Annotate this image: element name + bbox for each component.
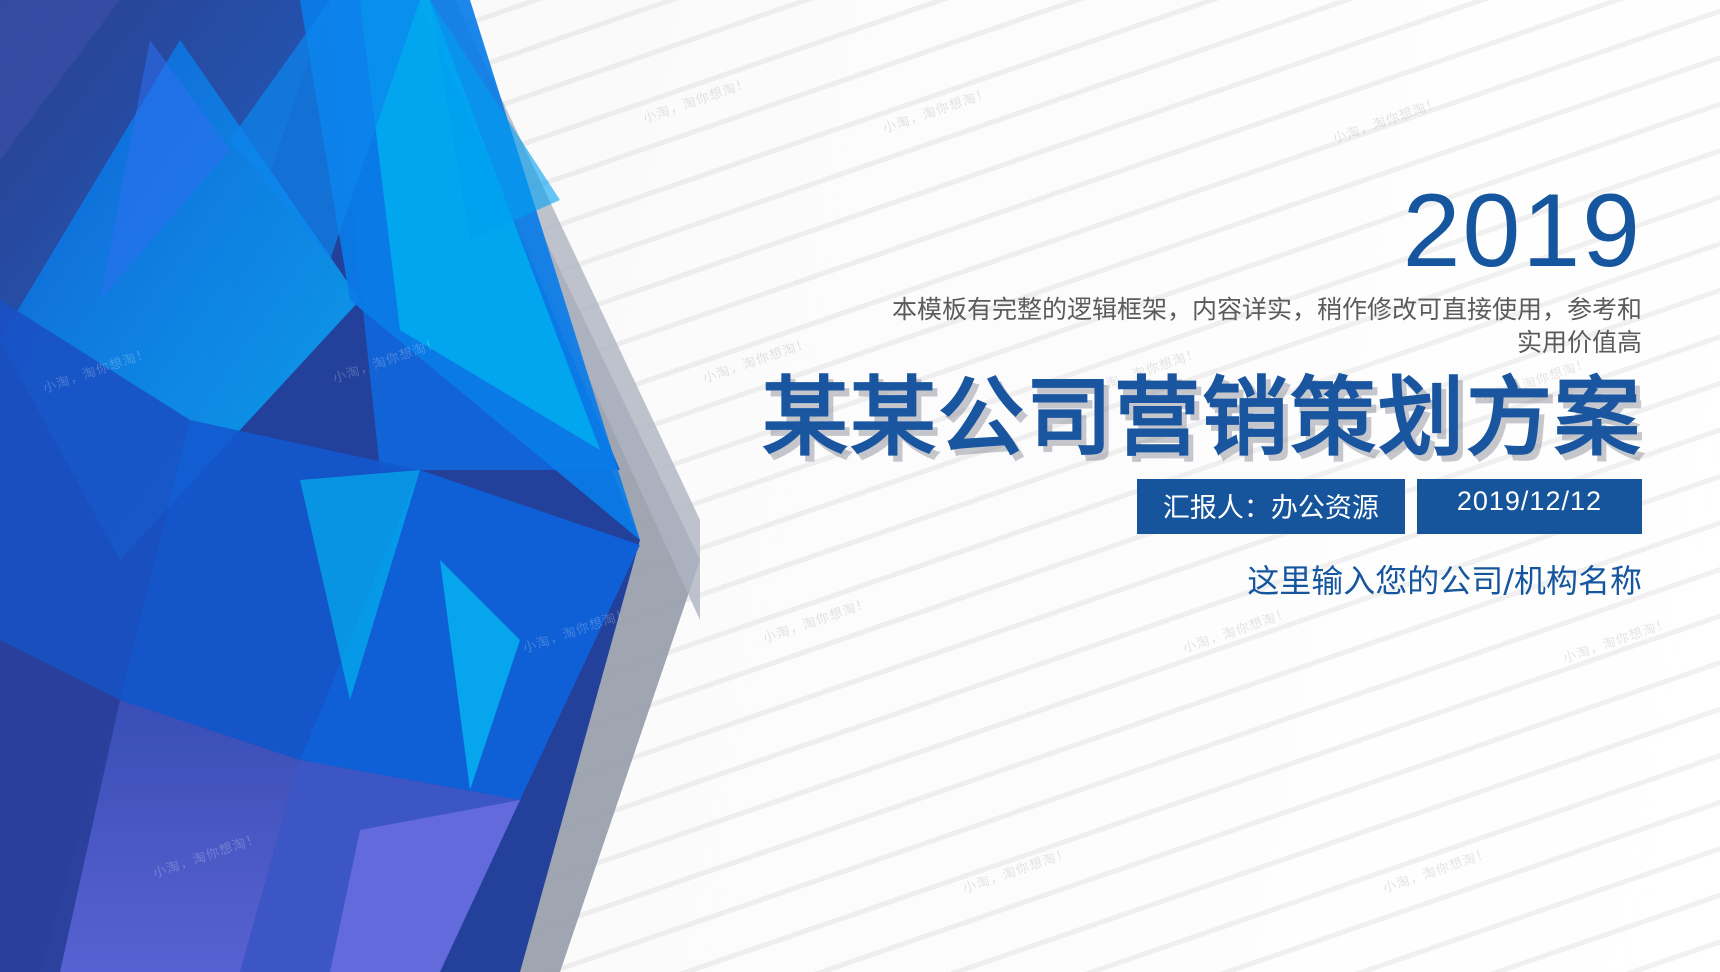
slide-main-title: 某某公司营销策划方案 xyxy=(742,374,1642,463)
geometric-artwork xyxy=(0,0,700,972)
meta-badges: 汇报人：办公资源 2019/12/12 xyxy=(742,479,1642,534)
slide-content: 2019 本模板有完整的逻辑框架，内容详实，稍作修改可直接使用，参考和 实用价值… xyxy=(742,182,1642,602)
date-badge: 2019/12/12 xyxy=(1417,479,1642,534)
presentation-slide: 小淘，淘你想淘！小淘，淘你想淘！小淘，淘你想淘！小淘，淘你想淘！小淘，淘你想淘！… xyxy=(0,0,1720,972)
subtitle-line-2: 实用价值高 xyxy=(742,326,1642,360)
presenter-badge: 汇报人：办公资源 xyxy=(1137,479,1405,534)
year-display: 2019 xyxy=(742,182,1642,281)
artwork-polygons xyxy=(0,0,700,972)
company-name-placeholder: 这里输入您的公司/机构名称 xyxy=(742,556,1642,602)
subtitle-line-1: 本模板有完整的逻辑框架，内容详实，稍作修改可直接使用，参考和 xyxy=(742,293,1642,327)
slide-subtitle: 本模板有完整的逻辑框架，内容详实，稍作修改可直接使用，参考和 实用价值高 xyxy=(742,293,1642,360)
